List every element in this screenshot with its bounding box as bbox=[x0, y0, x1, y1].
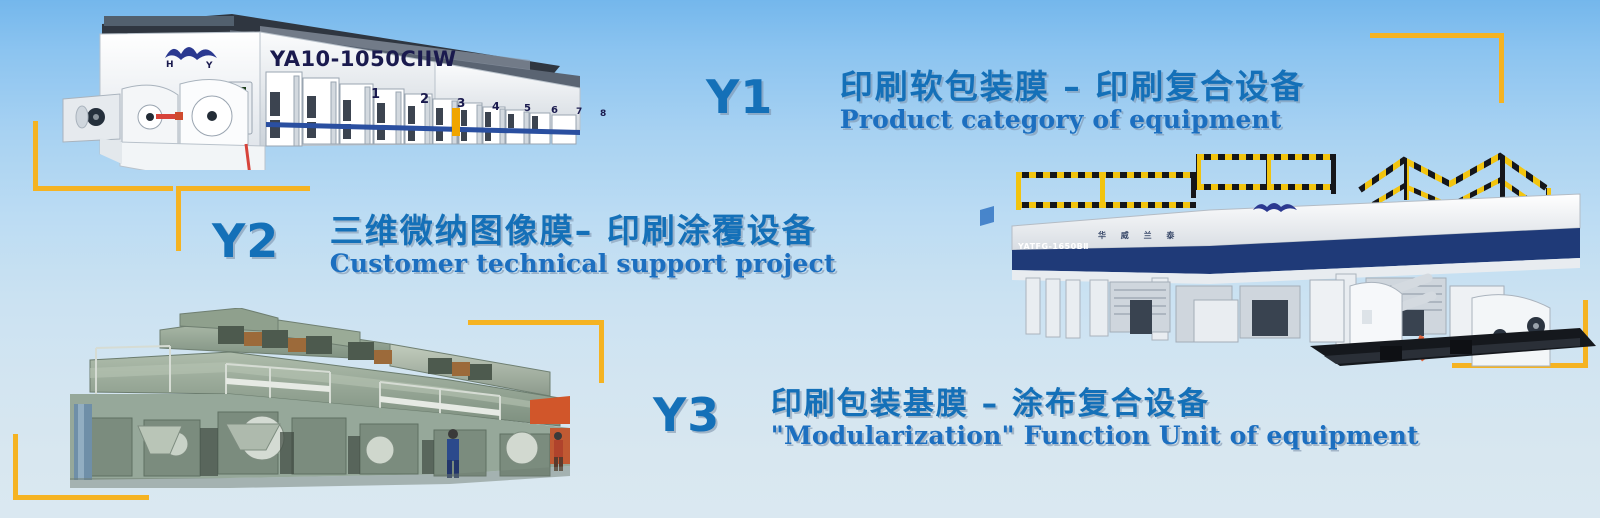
heading-y1-code: Y1 bbox=[706, 70, 773, 124]
machine-coating-laminating: YATFG-1650BⅡ 华 威 兰 泰 bbox=[980, 150, 1600, 372]
machine-1-brand-y: Y bbox=[206, 61, 213, 71]
machine-2-chinese-mark: 华 威 兰 泰 bbox=[1098, 230, 1180, 241]
bracket-y2-vertical bbox=[176, 186, 181, 251]
bracket-bottom-left-horizontal bbox=[13, 495, 149, 500]
machine-1-unit-number: 5 bbox=[524, 103, 531, 114]
heading-y3-english: "Modularization" Function Unit of equipm… bbox=[771, 423, 1419, 449]
bracket-y2-horizontal bbox=[176, 186, 310, 191]
bracket-top-right-horizontal bbox=[1370, 33, 1504, 38]
heading-y2-chinese: 三维微纳图像膜– 印刷涂覆设备 bbox=[330, 214, 836, 249]
bracket-top-left-vertical bbox=[33, 121, 38, 191]
heading-y2-code: Y2 bbox=[212, 214, 279, 268]
heading-y2: Y2 三维微纳图像膜– 印刷涂覆设备 Customer technical su… bbox=[212, 214, 836, 277]
machine-1-yellow-accent bbox=[452, 108, 460, 136]
bracket-top-right-vertical bbox=[1499, 33, 1504, 103]
machine-2-brand-logo bbox=[1252, 200, 1298, 221]
heading-y2-english: Customer technical support project bbox=[330, 251, 836, 277]
bracket-y3-vertical bbox=[599, 320, 604, 383]
bracket-bottom-left-vertical bbox=[13, 434, 18, 500]
machine-1-unit-number: 4 bbox=[492, 100, 500, 113]
machine-rotogravure-printing-press: H Y YA10-1050CIIW 1 2 3 4 5 6 7 8 bbox=[60, 4, 600, 170]
heading-y1-english: Product category of equipment bbox=[840, 107, 1305, 133]
heading-y3: Y3 印刷包装基膜 – 涂布复合设备 "Modularization" Func… bbox=[653, 388, 1419, 449]
machine-1-unit-number: 2 bbox=[420, 92, 429, 107]
base-film-line-illustration bbox=[30, 308, 580, 490]
machine-base-film-coating-line bbox=[30, 308, 580, 490]
coating-laminator-illustration bbox=[980, 150, 1600, 372]
machine-1-brand-h: H bbox=[166, 60, 174, 70]
machine-1-unit-number: 6 bbox=[551, 105, 558, 116]
banner-root: H Y YA10-1050CIIW 1 2 3 4 5 6 7 8 bbox=[0, 0, 1600, 518]
machine-2-model-label: YATFG-1650BⅡ bbox=[1018, 242, 1089, 251]
heading-y1-chinese: 印刷软包装膜 – 印刷复合设备 bbox=[840, 70, 1305, 105]
heading-y3-chinese: 印刷包装基膜 – 涂布复合设备 bbox=[771, 388, 1419, 421]
machine-1-model-label: YA10-1050CIIW bbox=[270, 47, 457, 71]
machine-1-unit-number: 1 bbox=[371, 87, 380, 102]
bracket-top-left-horizontal bbox=[33, 186, 173, 191]
machine-1-unit-number: 8 bbox=[600, 109, 606, 119]
heading-y1: Y1 印刷软包装膜 – 印刷复合设备 Product category of e… bbox=[706, 70, 1305, 133]
rotogravure-press-illustration bbox=[60, 4, 600, 170]
heading-y3-code: Y3 bbox=[653, 388, 720, 442]
machine-1-unit-number: 7 bbox=[576, 107, 582, 117]
